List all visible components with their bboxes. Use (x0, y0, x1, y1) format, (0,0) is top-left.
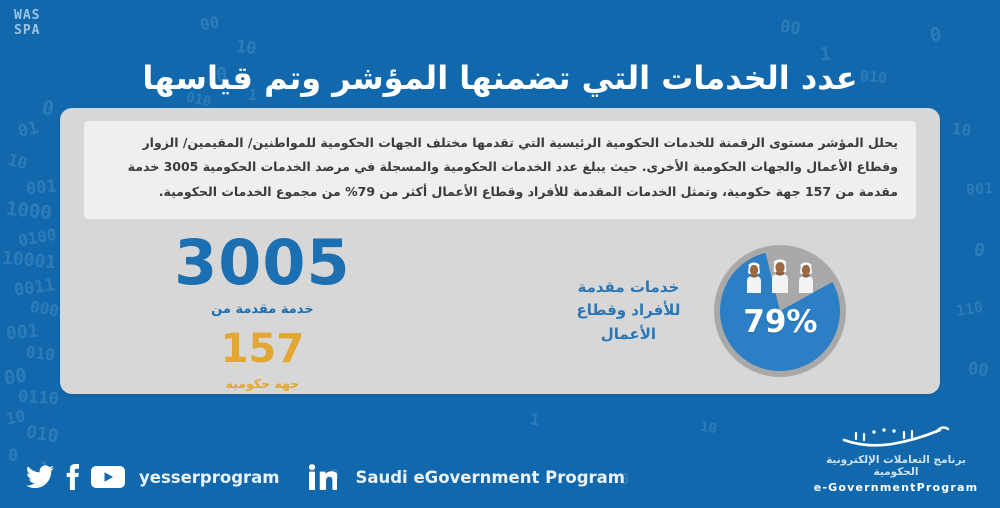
was-spa-logo: WAS SPA (14, 8, 70, 42)
twitter-icon[interactable] (26, 465, 54, 489)
page-title: عدد الخدمات التي تضمنها المؤشر وتم قياسه… (0, 59, 1000, 97)
binary-digit: 0 (40, 95, 55, 120)
binary-digit: 001 (5, 321, 39, 345)
binary-digit: 010 (25, 342, 56, 364)
binary-digit: 1000 (5, 198, 53, 225)
pie-center-percentage: 79% (714, 304, 846, 340)
binary-digit: 00 (2, 364, 28, 389)
binary-digit: 0 (972, 239, 986, 262)
services-total-value: 3005 (174, 232, 351, 294)
infographic-root: 0101000110000100100010011000100101000011… (0, 0, 1000, 508)
facebook-icon[interactable] (64, 464, 81, 490)
binary-digit: 00 (967, 359, 989, 381)
binary-digit: 001 (965, 179, 993, 199)
pie-chart: 79% (714, 245, 846, 377)
yesser-logo-arabic: برنامج التعاملات الإلكترونية الحكومية (812, 454, 980, 479)
binary-digit: 10 (6, 150, 29, 173)
social-links: yesserprogram Saudi eGovernment Program (26, 464, 625, 490)
binary-digit: 110 (955, 298, 985, 320)
entities-total-value: 157 (221, 329, 305, 369)
binary-digit: 0100 (17, 225, 58, 250)
binary-digit: 0 (929, 23, 943, 46)
yesser-wordmark-icon (836, 420, 956, 450)
person-icon-middle (767, 258, 793, 295)
stats-block: 3005 خدمة مقدمة من 157 جهة حكومية (60, 232, 465, 391)
footer: yesserprogram Saudi eGovernment Program (0, 408, 1000, 508)
services-total-caption: خدمة مقدمة من (211, 302, 313, 317)
yesser-logo: برنامج التعاملات الإلكترونية الحكومية e-… (812, 420, 980, 494)
binary-digit: 10001 (1, 248, 57, 274)
person-icon-left (794, 261, 818, 295)
content-row: 3005 خدمة مقدمة من 157 جهة حكومية (60, 228, 940, 394)
binary-digit: 10 (235, 37, 258, 60)
youtube-icon[interactable] (91, 465, 125, 489)
pie-chart-label: خدمات مقدمة للأفراد وقطاع الأعمال (558, 276, 698, 346)
binary-digit: 001 (25, 176, 58, 199)
description-text: يحلل المؤشر مستوى الرقمنة للخدمات الحكوم… (102, 131, 898, 204)
binary-digit: 10 (951, 119, 972, 140)
binary-digit: 00 (779, 17, 802, 40)
main-card: يحلل المؤشر مستوى الرقمنة للخدمات الحكوم… (60, 108, 940, 394)
binary-digit: 01 (16, 118, 40, 142)
social-handle[interactable]: yesserprogram (139, 468, 279, 487)
people-group-icon (714, 259, 846, 295)
linkedin-icon[interactable] (309, 464, 337, 490)
entities-total-caption: جهة حكومية (226, 376, 300, 391)
description-panel: يحلل المؤشر مستوى الرقمنة للخدمات الحكوم… (84, 121, 916, 219)
person-icon-right (742, 261, 766, 295)
binary-digit: 0011 (13, 275, 56, 301)
yesser-logo-english: e-GovernmentProgram (812, 481, 980, 494)
binary-digit: 0110 (17, 387, 59, 410)
linkedin-page-name[interactable]: Saudi eGovernment Program (355, 468, 624, 487)
was-spa-logo-line1: WAS (14, 8, 70, 23)
binary-digit: 00 (198, 12, 220, 34)
was-spa-logo-line2: SPA (14, 23, 70, 38)
pie-chart-block: 79% خدمات مقدمة للأفراد وقطاع الأعمال (465, 245, 940, 377)
